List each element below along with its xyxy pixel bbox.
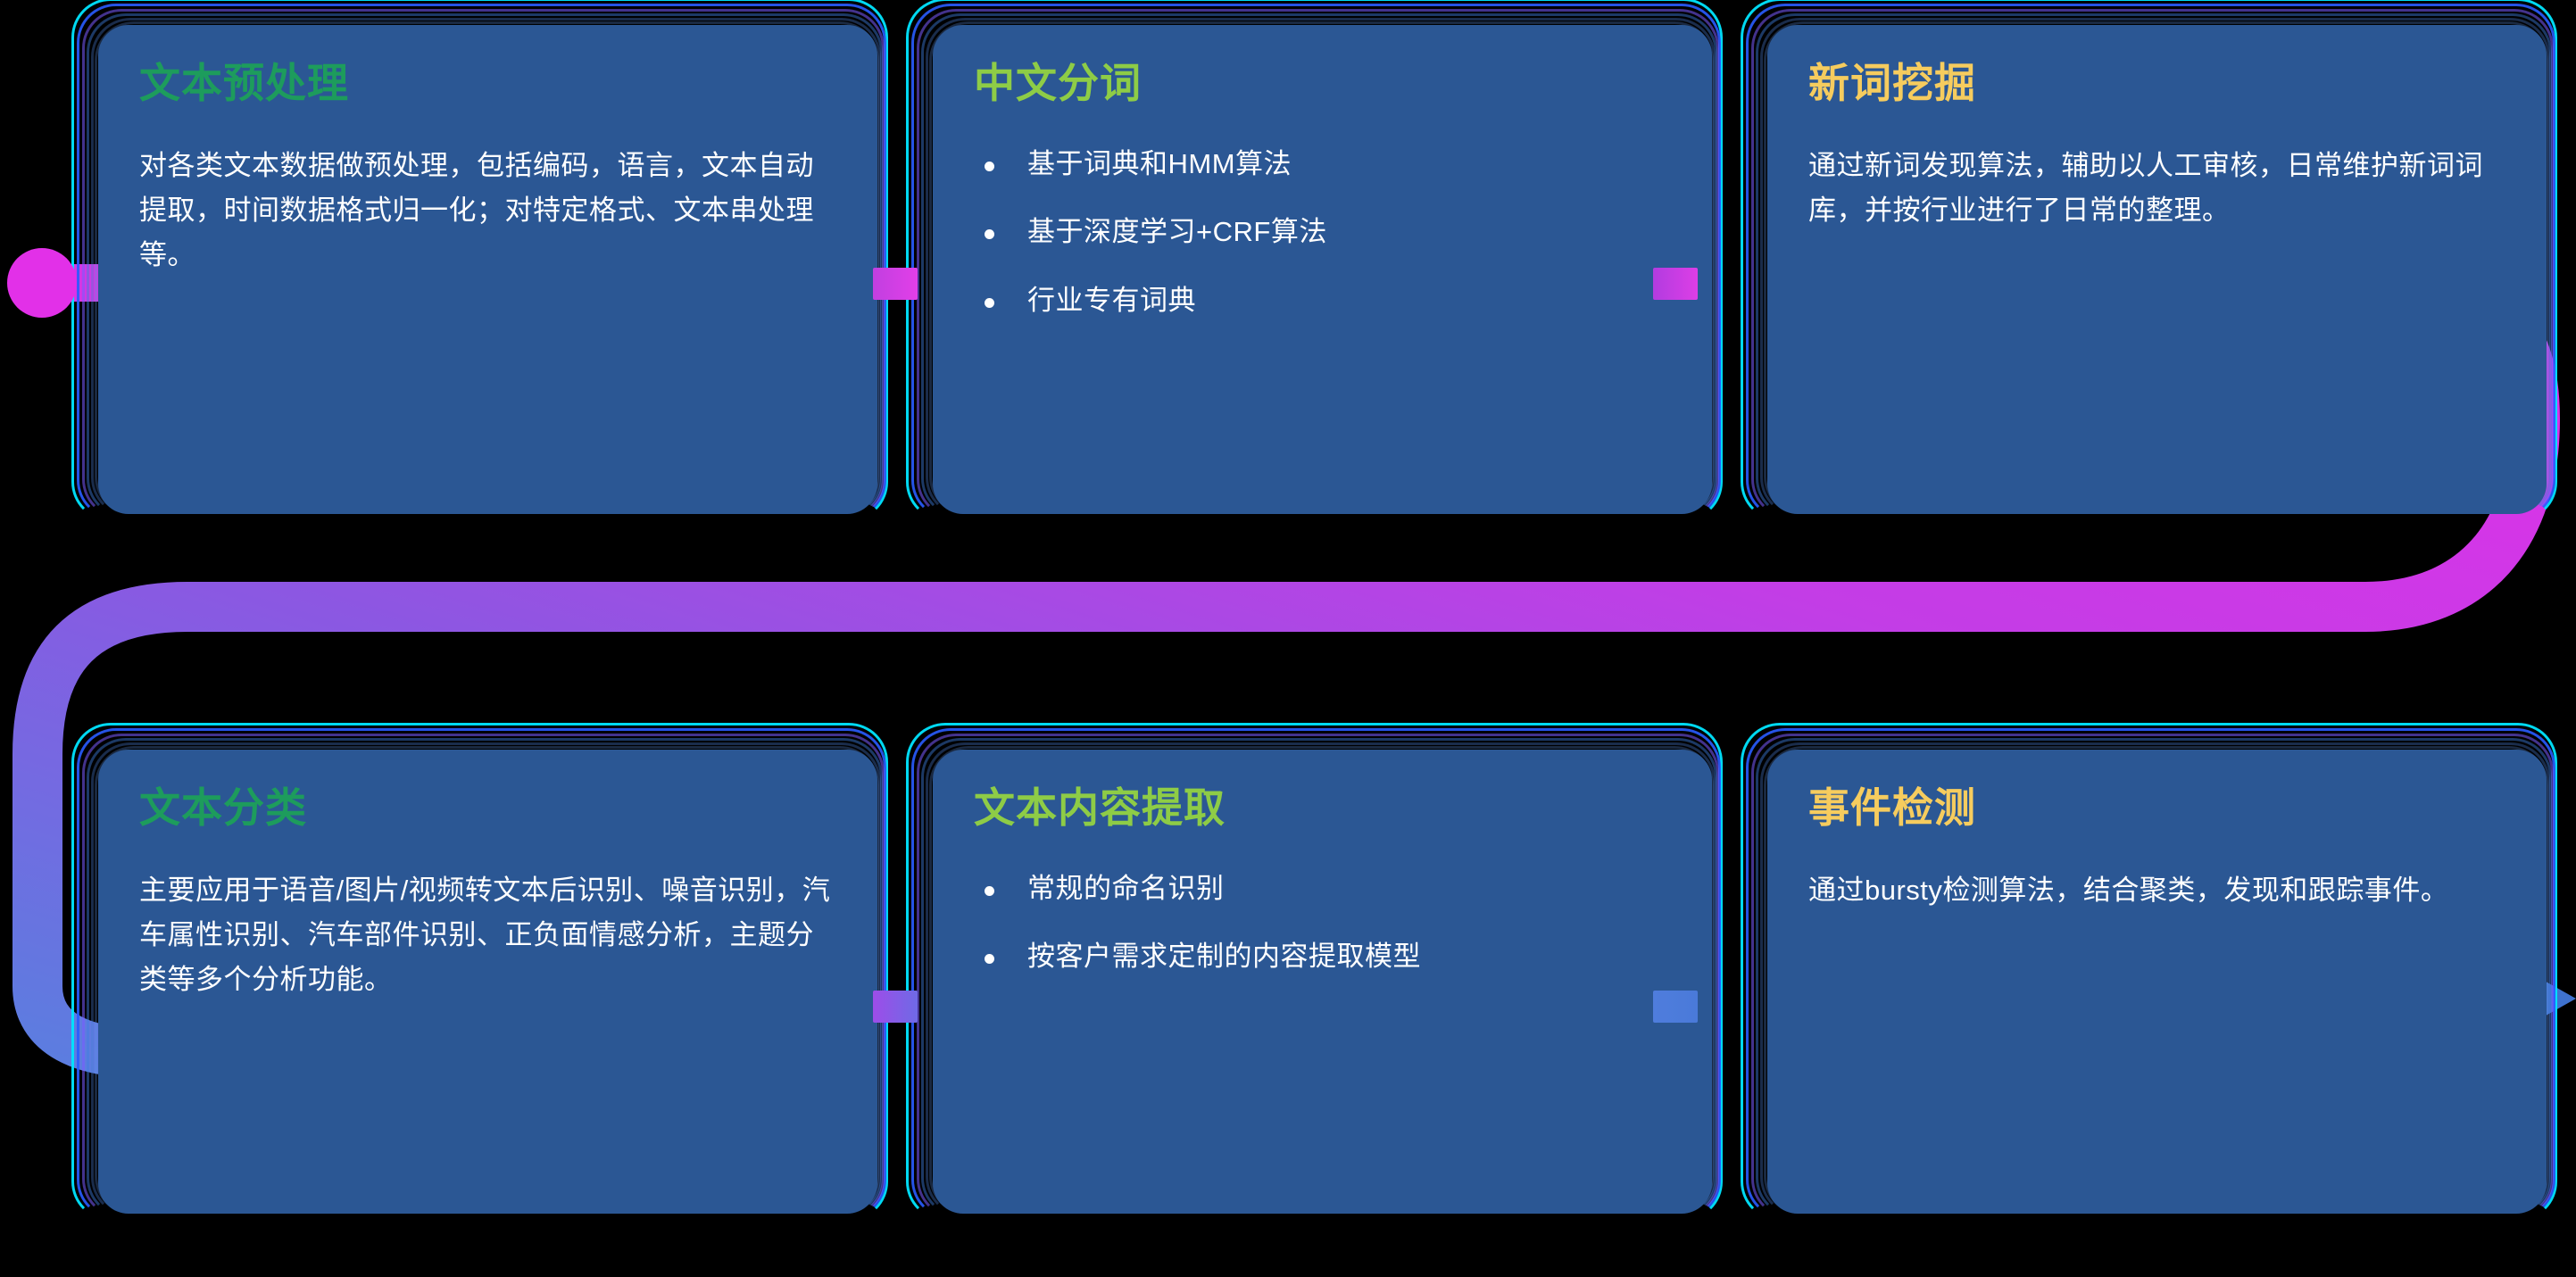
card-text-content-extraction[interactable]: 文本内容提取 常规的命名识别 按客户需求定制的内容提取模型 bbox=[933, 750, 1712, 1214]
card-title: 中文分词 bbox=[974, 61, 1671, 106]
card-bullet-list: 基于词典和HMM算法 基于深度学习+CRF算法 行业专有词典 bbox=[974, 144, 1671, 322]
start-node-dot bbox=[7, 248, 77, 318]
card-bullet-list: 常规的命名识别 按客户需求定制的内容提取模型 bbox=[974, 868, 1671, 978]
list-item: 基于词典和HMM算法 bbox=[974, 144, 1671, 186]
list-item-label: 按客户需求定制的内容提取模型 bbox=[1027, 941, 1421, 972]
card-body-text: 对各类文本数据做预处理，包括编码，语言，文本自动提取，时间数据格式归一化；对特定… bbox=[139, 144, 836, 278]
card-new-word-discovery[interactable]: 新词挖掘 通过新词发现算法，辅助以人工审核，日常维护新词词库，并按行业进行了日常… bbox=[1767, 25, 2547, 514]
list-item: 行业专有词典 bbox=[974, 280, 1671, 322]
card-text-classification[interactable]: 文本分类 主要应用于语音/图片/视频转文本后识别、噪音识别，汽车属性识别、汽车部… bbox=[98, 750, 877, 1214]
list-item-label: 常规的命名识别 bbox=[1027, 873, 1225, 904]
bullet-dot-icon bbox=[985, 229, 994, 239]
bullet-dot-icon bbox=[985, 162, 994, 171]
card-chinese-word-segmentation[interactable]: 中文分词 基于词典和HMM算法 基于深度学习+CRF算法 行业专有词典 bbox=[933, 25, 1712, 514]
card-body-text: 通过新词发现算法，辅助以人工审核，日常维护新词词库，并按行业进行了日常的整理。 bbox=[1808, 144, 2505, 233]
card-joiner-1-2 bbox=[873, 268, 918, 300]
card-title: 文本内容提取 bbox=[974, 785, 1671, 831]
list-item: 基于深度学习+CRF算法 bbox=[974, 211, 1671, 253]
card-joiner-5-6 bbox=[1653, 991, 1698, 1023]
card-title: 文本预处理 bbox=[139, 61, 836, 106]
list-item: 常规的命名识别 bbox=[974, 868, 1671, 910]
card-title: 文本分类 bbox=[139, 785, 836, 831]
card-joiner-2-3 bbox=[1653, 268, 1698, 300]
process-row-bottom: 文本分类 主要应用于语音/图片/视频转文本后识别、噪音识别，汽车属性识别、汽车部… bbox=[98, 750, 2547, 1214]
bullet-dot-icon bbox=[985, 886, 994, 896]
list-item-label: 基于词典和HMM算法 bbox=[1027, 148, 1292, 179]
card-spacer bbox=[1712, 25, 1767, 514]
card-spacer bbox=[877, 750, 933, 1214]
bullet-dot-icon bbox=[985, 298, 994, 308]
list-item-label: 行业专有词典 bbox=[1027, 285, 1196, 316]
diagram-canvas: 文本预处理 对各类文本数据做预处理，包括编码，语言，文本自动提取，时间数据格式归… bbox=[0, 0, 2576, 1277]
card-body-text: 主要应用于语音/图片/视频转文本后识别、噪音识别，汽车属性识别、汽车部件识别、正… bbox=[139, 868, 836, 1003]
card-joiner-4-5 bbox=[873, 991, 918, 1023]
list-item: 按客户需求定制的内容提取模型 bbox=[974, 936, 1671, 978]
card-body-text: 通过bursty检测算法，结合聚类，发现和跟踪事件。 bbox=[1808, 868, 2505, 913]
card-text-preprocessing[interactable]: 文本预处理 对各类文本数据做预处理，包括编码，语言，文本自动提取，时间数据格式归… bbox=[98, 25, 877, 514]
bullet-dot-icon bbox=[985, 954, 994, 964]
list-item-label: 基于深度学习+CRF算法 bbox=[1027, 216, 1327, 247]
card-title: 事件检测 bbox=[1808, 785, 2505, 831]
card-title: 新词挖掘 bbox=[1808, 61, 2505, 106]
card-event-detection[interactable]: 事件检测 通过bursty检测算法，结合聚类，发现和跟踪事件。 bbox=[1767, 750, 2547, 1214]
card-spacer bbox=[1712, 750, 1767, 1214]
process-row-top: 文本预处理 对各类文本数据做预处理，包括编码，语言，文本自动提取，时间数据格式归… bbox=[98, 25, 2547, 514]
